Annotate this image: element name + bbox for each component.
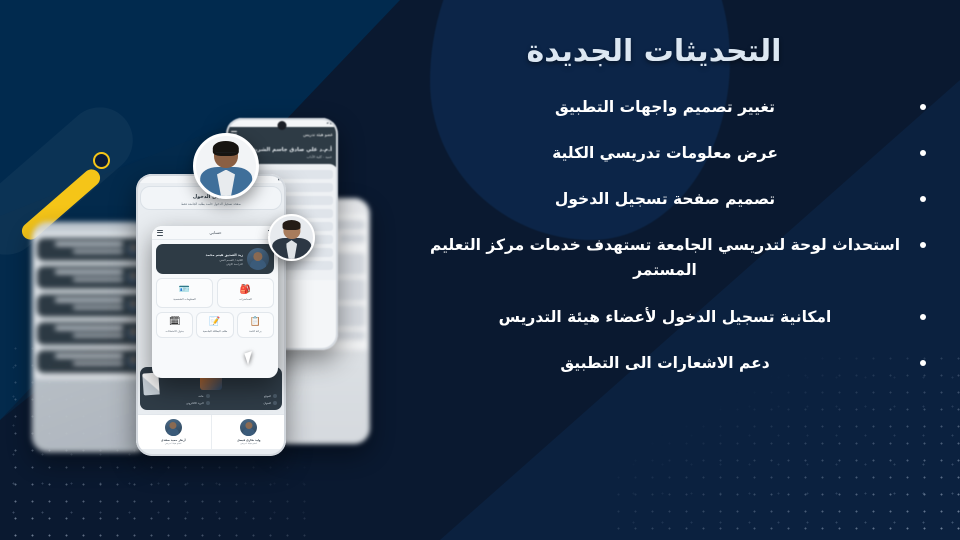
tile-label: براءة الذمة bbox=[249, 329, 261, 333]
bullet-text: دعم الاشعارات الى التطبيق bbox=[420, 351, 906, 376]
faculty-card-role: عضو هيئة تدريس bbox=[138, 442, 209, 445]
id-card-icon: 🪪 bbox=[179, 286, 190, 295]
clipboard-icon: 📋 bbox=[250, 318, 261, 327]
contact-label-address: العنوان bbox=[263, 402, 271, 405]
list-item: دعم الاشعارات الى التطبيق bbox=[420, 351, 926, 376]
contact-label-phone: هاتف bbox=[198, 395, 204, 398]
tile-personal-info[interactable]: 🪪 المعلومات الشخصية bbox=[156, 278, 213, 308]
bullet-dot-icon bbox=[920, 360, 926, 366]
tile-label: طلب البطاقة الجامعية bbox=[203, 329, 228, 333]
student-portrait-avatar bbox=[193, 133, 259, 199]
contact-label-globe: الموقع bbox=[264, 395, 271, 398]
faculty-portrait-avatar bbox=[268, 214, 315, 261]
student-name: زيد الصديق هيثم محمد bbox=[161, 253, 243, 257]
page-title: التحديثات الجديدة bbox=[420, 34, 888, 69]
tile-lectures[interactable]: 🎒 المحاضرات bbox=[217, 278, 274, 308]
tile-label: المعلومات الشخصية bbox=[173, 297, 196, 301]
faculty-card-role: عضو هيئة تدريس bbox=[214, 442, 285, 445]
account-header-title: حسابي bbox=[209, 230, 221, 235]
slide-content: التحديثات الجديدة تغيير تصميم واجهات الت… bbox=[420, 0, 960, 540]
glasses-icon bbox=[216, 152, 236, 157]
faculty-card[interactable]: وليد طارق فيصل عضو هيئة تدريس bbox=[211, 415, 287, 449]
avatar bbox=[240, 419, 257, 436]
phone-icon bbox=[206, 394, 210, 398]
account-header: حسابي bbox=[152, 226, 278, 240]
camera-notch-icon bbox=[278, 121, 287, 130]
list-item: امكانية تسجيل الدخول لأعضاء هيئة التدريس bbox=[420, 305, 926, 330]
bullet-dot-icon bbox=[920, 242, 926, 248]
backpack-icon: 🎒 bbox=[240, 286, 251, 295]
phone-mockup-back-left bbox=[32, 222, 150, 452]
tile-label: المحاضرات bbox=[239, 297, 252, 301]
tile-exam-schedule[interactable]: 🗓 جدول الامتحانات bbox=[156, 312, 193, 338]
bullet-dot-icon bbox=[920, 196, 926, 202]
pin-icon bbox=[273, 401, 277, 405]
globe-icon bbox=[273, 394, 277, 398]
avatar bbox=[165, 419, 182, 436]
list-item: تغيير تصميم واجهات التطبيق bbox=[420, 95, 926, 120]
bullet-text: امكانية تسجيل الدخول لأعضاء هيئة التدريس bbox=[420, 305, 906, 330]
status-icons: ▮▮ ▰ bbox=[326, 121, 333, 125]
bullet-list: تغيير تصميم واجهات التطبيق عرض معلومات ت… bbox=[420, 95, 926, 376]
contact-item-address[interactable]: العنوان bbox=[213, 401, 278, 405]
faculty-header-title: عضو هيئة تدريس bbox=[303, 132, 333, 137]
contact-label-email: البريد الالكتروني bbox=[186, 402, 203, 405]
phone-mockup-group: ▮▮ ▰ عضو هيئة تدريس أ.م.د علي صادق جاسم … bbox=[0, 0, 400, 540]
list-item: عرض معلومات تدريسي الكلية bbox=[420, 141, 926, 166]
tile-clearance[interactable]: 📋 براءة الذمة bbox=[237, 312, 274, 338]
student-profile-card: زيد الصديق هيثم محمد الثانية / القسم الف… bbox=[156, 244, 274, 274]
card-request-icon: 📝 bbox=[209, 318, 220, 327]
calendar-icon: 🗓 bbox=[169, 318, 180, 327]
faculty-card[interactable]: أزهار حميد صفدي عضو هيئة تدريس bbox=[136, 415, 211, 449]
contact-item-email[interactable]: البريد الالكتروني bbox=[145, 401, 210, 405]
mail-icon bbox=[206, 401, 210, 405]
bullet-dot-icon bbox=[920, 104, 926, 110]
account-screen-card: حسابي زيد الصديق هيثم محمد الثانية / الق… bbox=[152, 226, 278, 378]
bullet-dot-icon bbox=[920, 314, 926, 320]
bullet-text: عرض معلومات تدريسي الكلية bbox=[420, 141, 906, 166]
list-item: تصميم صفحة تسجيل الدخول bbox=[420, 187, 926, 212]
bullet-text: تغيير تصميم واجهات التطبيق bbox=[420, 95, 906, 120]
tile-card-request[interactable]: 📝 طلب البطاقة الجامعية bbox=[196, 312, 233, 338]
list-item: استحداث لوحة لتدريسي الجامعة تستهدف خدما… bbox=[420, 233, 926, 283]
avatar bbox=[247, 248, 269, 270]
hamburger-icon[interactable] bbox=[157, 230, 163, 236]
tile-label: جدول الامتحانات bbox=[166, 329, 184, 333]
account-tiles-row1: 🎒 المحاضرات 🪪 المعلومات الشخصية bbox=[152, 278, 278, 308]
contact-item-globe[interactable]: الموقع bbox=[213, 394, 278, 398]
slide-canvas: ▮▮ ▰ عضو هيئة تدريس أ.م.د علي صادق جاسم … bbox=[0, 0, 960, 540]
faculty-card-row: وليد طارق فيصل عضو هيئة تدريس أزهار حميد… bbox=[136, 414, 286, 449]
bullet-dot-icon bbox=[920, 150, 926, 156]
account-tiles-row2: 📋 براءة الذمة 📝 طلب البطاقة الجامعية 🗓 ج… bbox=[152, 308, 278, 342]
student-study-type: الدراسة الاولى bbox=[161, 262, 243, 266]
bullet-text: استحداث لوحة لتدريسي الجامعة تستهدف خدما… bbox=[420, 233, 906, 283]
bullet-text: تصميم صفحة تسجيل الدخول bbox=[420, 187, 906, 212]
login-note: صفحة تسجيل الدخول خاصة بطلبة الجامعة فقط bbox=[146, 202, 276, 206]
